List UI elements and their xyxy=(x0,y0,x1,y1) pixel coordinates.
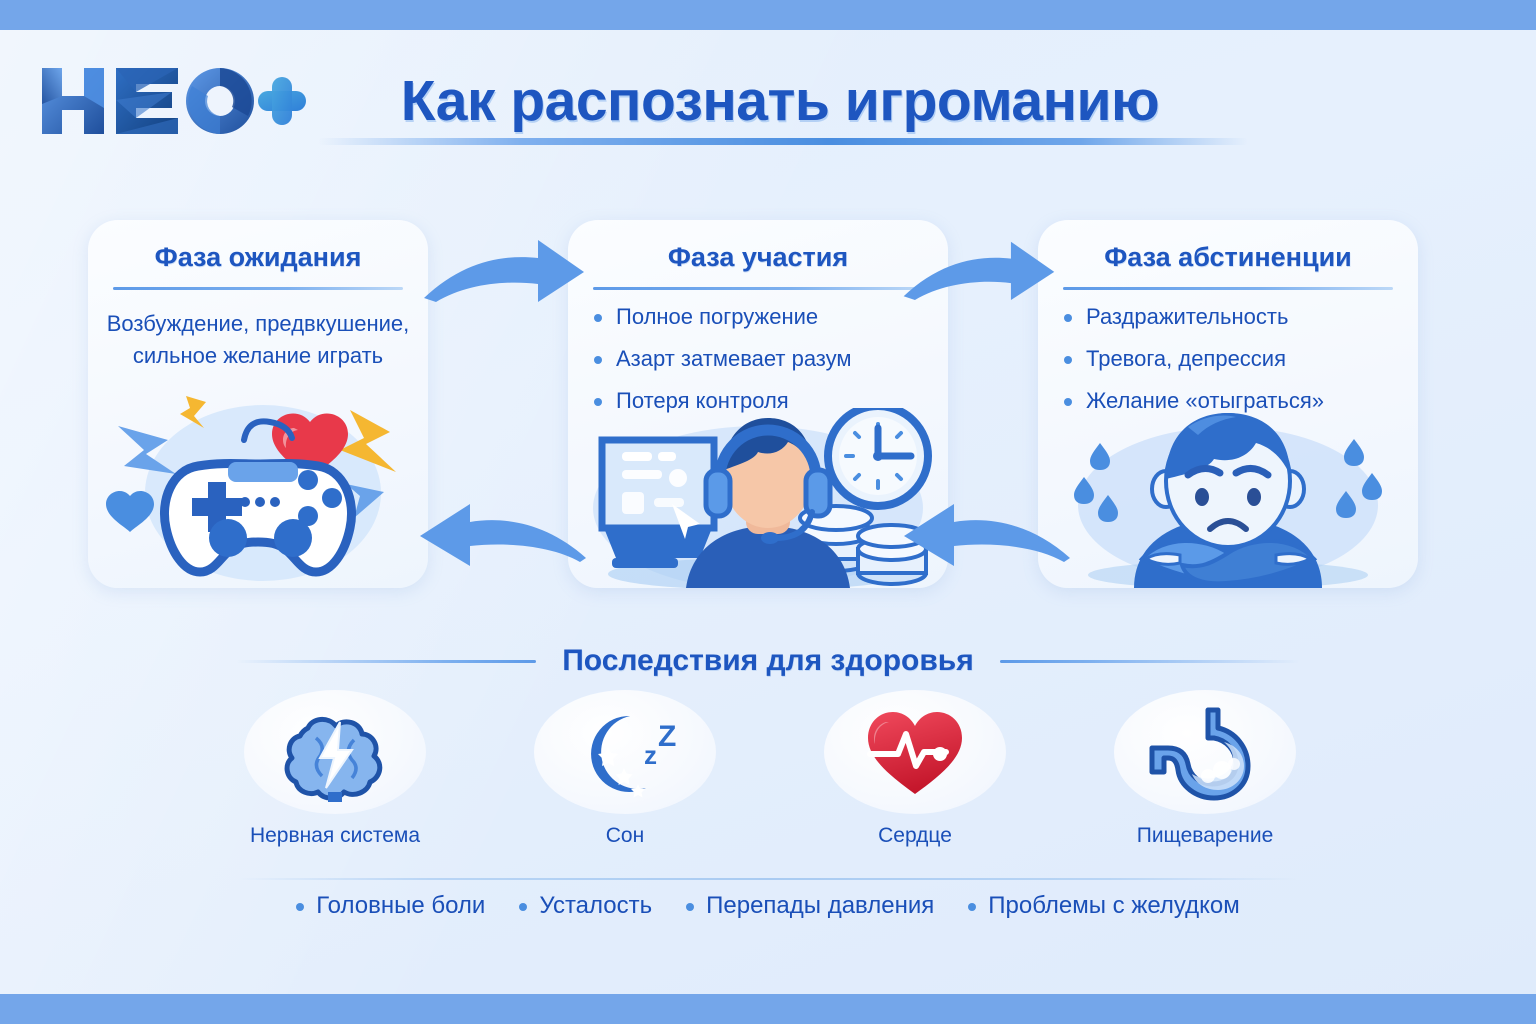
phase-bullet: Азарт затмевает разум xyxy=(594,348,948,390)
phase-bullet: Раздражительность xyxy=(1064,306,1418,348)
symptom-item: Головные боли xyxy=(296,892,485,920)
health-consequences-row: Нервная система z Z Сон xyxy=(230,690,1310,870)
health-icon-blob xyxy=(1114,690,1296,814)
arrow-phase1-to-phase2 xyxy=(418,232,588,306)
phase-card-expectation[interactable]: Фаза ожидания Возбуждение, предвкушение,… xyxy=(88,220,428,588)
phase-bullet: Тревога, депрессия xyxy=(1064,348,1418,390)
phase-card-divider xyxy=(113,287,403,290)
health-item-nervous-system[interactable]: Нервная система xyxy=(230,690,440,870)
svg-text:z: z xyxy=(644,740,657,770)
infographic-poster: Как распознать игроманию Фаза ожидания В… xyxy=(0,0,1536,1024)
neo-plus-logo xyxy=(36,58,306,142)
heart-pulse-icon xyxy=(856,702,974,802)
health-item-digestion[interactable]: Пищеварение xyxy=(1100,690,1310,870)
symptom-item: Усталость xyxy=(519,892,652,920)
health-item-label: Нервная система xyxy=(250,824,420,848)
phase-card-withdrawal[interactable]: Фаза абстиненции Раздражительность Трево… xyxy=(1038,220,1418,588)
health-section-title: Последствия для здоровья xyxy=(562,644,974,678)
sad-person-illustration xyxy=(1038,413,1418,588)
phase-card-participation[interactable]: Фаза участия Полное погружение Азарт зат… xyxy=(568,220,948,588)
brain-lightning-icon xyxy=(276,702,394,802)
phase-cards: Фаза ожидания Возбуждение, предвкушение,… xyxy=(0,220,1536,600)
health-item-label: Сердце xyxy=(878,824,952,848)
phase-card-body: Возбуждение, предвкушение, сильное желан… xyxy=(88,308,428,372)
symptoms-row: Головные боли Усталость Перепады давлени… xyxy=(0,892,1536,920)
health-item-label: Пищеварение xyxy=(1137,824,1274,848)
phase-card-title: Фаза ожидания xyxy=(88,242,428,273)
phase-bullet: Полное погружение xyxy=(594,306,948,348)
health-icon-blob: z Z xyxy=(534,690,716,814)
arrow-phase2-to-phase3 xyxy=(898,232,1058,306)
gamepad-hearts-illustration xyxy=(88,388,428,588)
svg-text:Z: Z xyxy=(658,720,676,753)
phase-card-title: Фаза абстиненции xyxy=(1038,242,1418,273)
moon-zzz-icon: z Z xyxy=(566,702,684,802)
header: Как распознать игроманию xyxy=(0,30,1536,170)
arrow-phase2-to-phase1 xyxy=(412,498,592,570)
section-rule-left xyxy=(236,660,536,663)
gamer-headset-clock-coins-illustration xyxy=(568,408,948,588)
symptom-item: Проблемы с желудком xyxy=(968,892,1239,920)
symptom-item: Перепады давления xyxy=(686,892,934,920)
phase-card-title: Фаза участия xyxy=(568,242,948,273)
phase-card-divider xyxy=(1063,287,1393,290)
health-item-heart[interactable]: Сердце xyxy=(810,690,1020,870)
section-rule-right xyxy=(1000,660,1300,663)
health-section-header: Последствия для здоровья xyxy=(0,634,1536,688)
phase-card-divider xyxy=(593,287,923,290)
page-title: Как распознать игроманию xyxy=(330,68,1230,134)
health-item-sleep[interactable]: z Z Сон xyxy=(520,690,730,870)
arrow-phase3-to-phase2 xyxy=(896,498,1076,570)
health-icon-blob xyxy=(244,690,426,814)
health-item-label: Сон xyxy=(606,824,644,848)
health-icon-blob xyxy=(824,690,1006,814)
stomach-icon xyxy=(1146,702,1264,802)
title-underline xyxy=(318,138,1248,145)
symptoms-divider xyxy=(238,878,1300,880)
